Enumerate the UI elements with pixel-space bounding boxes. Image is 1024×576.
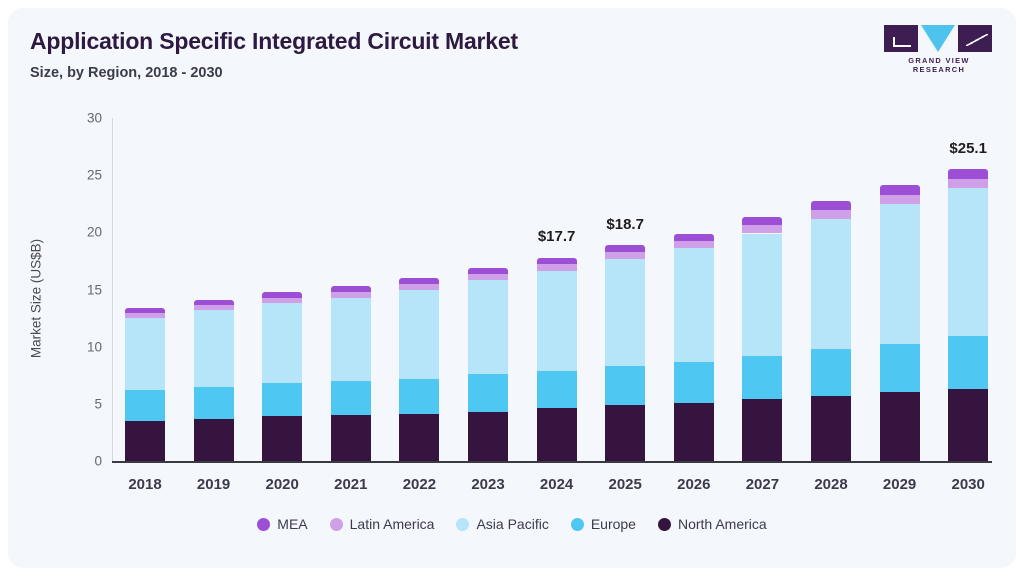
y-tick-label: 5 <box>68 396 102 411</box>
chart-plot-area: Market Size (US$B) 051015202530 20182019… <box>8 8 1016 568</box>
bar-segment[interactable] <box>742 225 782 233</box>
legend-item[interactable]: Europe <box>571 516 636 532</box>
y-axis-line <box>112 118 113 461</box>
bar-segment[interactable] <box>125 313 165 318</box>
x-axis-line <box>112 461 992 463</box>
bar-segment[interactable] <box>194 419 234 461</box>
bar-segment[interactable] <box>399 379 439 414</box>
legend-color-dot <box>257 518 270 531</box>
bar-segment[interactable] <box>742 217 782 225</box>
x-tick-label: 2026 <box>659 476 729 493</box>
bar-segment[interactable] <box>811 219 851 349</box>
legend-item[interactable]: Asia Pacific <box>456 516 548 532</box>
bar-segment[interactable] <box>125 421 165 461</box>
bar-column[interactable] <box>331 118 371 461</box>
legend-label: MEA <box>277 516 307 532</box>
bar-segment[interactable] <box>331 381 371 415</box>
bar-segment[interactable] <box>399 284 439 290</box>
bar-segment[interactable] <box>880 344 920 392</box>
bar-segment[interactable] <box>948 336 988 389</box>
bar-segment[interactable] <box>605 405 645 461</box>
x-tick-label: 2021 <box>316 476 386 493</box>
x-tick-label: 2027 <box>727 476 797 493</box>
x-tick-label: 2025 <box>590 476 660 493</box>
bar-segment[interactable] <box>742 234 782 356</box>
bar-segment[interactable] <box>125 308 165 313</box>
bar-segment[interactable] <box>674 362 714 403</box>
y-tick-label: 20 <box>68 225 102 240</box>
bar-segment[interactable] <box>880 185 920 194</box>
bar-segment[interactable] <box>194 387 234 419</box>
bar-segment[interactable] <box>194 300 234 305</box>
bar-segment[interactable] <box>468 280 508 374</box>
bar-column[interactable] <box>537 118 577 461</box>
bar-segment[interactable] <box>399 414 439 461</box>
bar-segment[interactable] <box>605 252 645 259</box>
bar-column[interactable] <box>880 118 920 461</box>
bar-segment[interactable] <box>537 258 577 265</box>
x-tick-label: 2028 <box>796 476 866 493</box>
bar-segment[interactable] <box>811 210 851 219</box>
x-tick-label: 2029 <box>865 476 935 493</box>
bar-column[interactable] <box>948 118 988 461</box>
bar-segment[interactable] <box>125 390 165 421</box>
bar-segment[interactable] <box>674 234 714 241</box>
bar-segment[interactable] <box>811 201 851 210</box>
bar-segment[interactable] <box>948 179 988 188</box>
bar-value-label: $25.1 <box>928 140 1008 157</box>
bar-segment[interactable] <box>674 403 714 461</box>
bar-segment[interactable] <box>880 195 920 204</box>
x-tick-label: 2023 <box>453 476 523 493</box>
y-tick-label: 25 <box>68 168 102 183</box>
bar-segment[interactable] <box>742 399 782 461</box>
bar-segment[interactable] <box>674 241 714 248</box>
bar-segment[interactable] <box>605 366 645 405</box>
chart-legend: MEALatin AmericaAsia PacificEuropeNorth … <box>8 516 1016 532</box>
bar-segment[interactable] <box>399 290 439 379</box>
bar-segment[interactable] <box>262 298 302 304</box>
bar-segment[interactable] <box>331 292 371 298</box>
bar-segment[interactable] <box>468 412 508 461</box>
bar-segment[interactable] <box>399 278 439 284</box>
bar-segment[interactable] <box>468 268 508 274</box>
bar-segment[interactable] <box>262 292 302 298</box>
legend-label: Asia Pacific <box>476 516 548 532</box>
bar-column[interactable] <box>125 118 165 461</box>
x-tick-label: 2030 <box>933 476 1003 493</box>
x-tick-label: 2020 <box>247 476 317 493</box>
bar-segment[interactable] <box>605 259 645 366</box>
bar-segment[interactable] <box>948 169 988 178</box>
legend-color-dot <box>571 518 584 531</box>
bar-segment[interactable] <box>331 298 371 381</box>
bar-segment[interactable] <box>880 392 920 461</box>
bar-segment[interactable] <box>537 408 577 461</box>
bar-segment[interactable] <box>742 356 782 399</box>
bar-column[interactable] <box>811 118 851 461</box>
legend-label: Europe <box>591 516 636 532</box>
bar-column[interactable] <box>605 118 645 461</box>
legend-item[interactable]: MEA <box>257 516 307 532</box>
y-tick-label: 15 <box>68 282 102 297</box>
legend-label: Latin America <box>350 516 435 532</box>
bar-segment[interactable] <box>537 264 577 271</box>
legend-item[interactable]: North America <box>658 516 767 532</box>
x-tick-label: 2018 <box>110 476 180 493</box>
legend-color-dot <box>658 518 671 531</box>
bar-segment[interactable] <box>262 303 302 383</box>
bar-segment[interactable] <box>880 204 920 345</box>
bar-column[interactable] <box>262 118 302 461</box>
bar-segment[interactable] <box>537 271 577 370</box>
bar-segment[interactable] <box>194 305 234 310</box>
bar-segment[interactable] <box>331 415 371 461</box>
x-tick-label: 2022 <box>384 476 454 493</box>
y-tick-label: 0 <box>68 454 102 469</box>
bar-segment[interactable] <box>948 188 988 337</box>
y-tick-label: 30 <box>68 111 102 126</box>
bar-segment[interactable] <box>948 389 988 461</box>
bar-segment[interactable] <box>468 274 508 280</box>
legend-item[interactable]: Latin America <box>330 516 435 532</box>
chart-card: Application Specific Integrated Circuit … <box>8 8 1016 568</box>
bar-value-label: $18.7 <box>585 216 665 233</box>
bar-segment[interactable] <box>262 416 302 461</box>
bar-segment[interactable] <box>125 318 165 390</box>
legend-label: North America <box>678 516 767 532</box>
bar-segment[interactable] <box>811 349 851 396</box>
bar-segment[interactable] <box>811 396 851 461</box>
bar-column[interactable] <box>468 118 508 461</box>
bar-segment[interactable] <box>262 383 302 416</box>
y-axis-label: Market Size (US$B) <box>29 209 44 389</box>
bar-segment[interactable] <box>468 374 508 412</box>
bar-segment[interactable] <box>674 248 714 361</box>
bar-segment[interactable] <box>605 245 645 252</box>
bar-segment[interactable] <box>331 286 371 292</box>
x-tick-label: 2019 <box>179 476 249 493</box>
legend-color-dot <box>456 518 469 531</box>
x-tick-label: 2024 <box>522 476 592 493</box>
bar-segment[interactable] <box>537 371 577 409</box>
bar-column[interactable] <box>742 118 782 461</box>
bar-column[interactable] <box>194 118 234 461</box>
bar-column[interactable] <box>674 118 714 461</box>
bar-segment[interactable] <box>194 310 234 387</box>
legend-color-dot <box>330 518 343 531</box>
y-tick-label: 10 <box>68 339 102 354</box>
bar-column[interactable] <box>399 118 439 461</box>
